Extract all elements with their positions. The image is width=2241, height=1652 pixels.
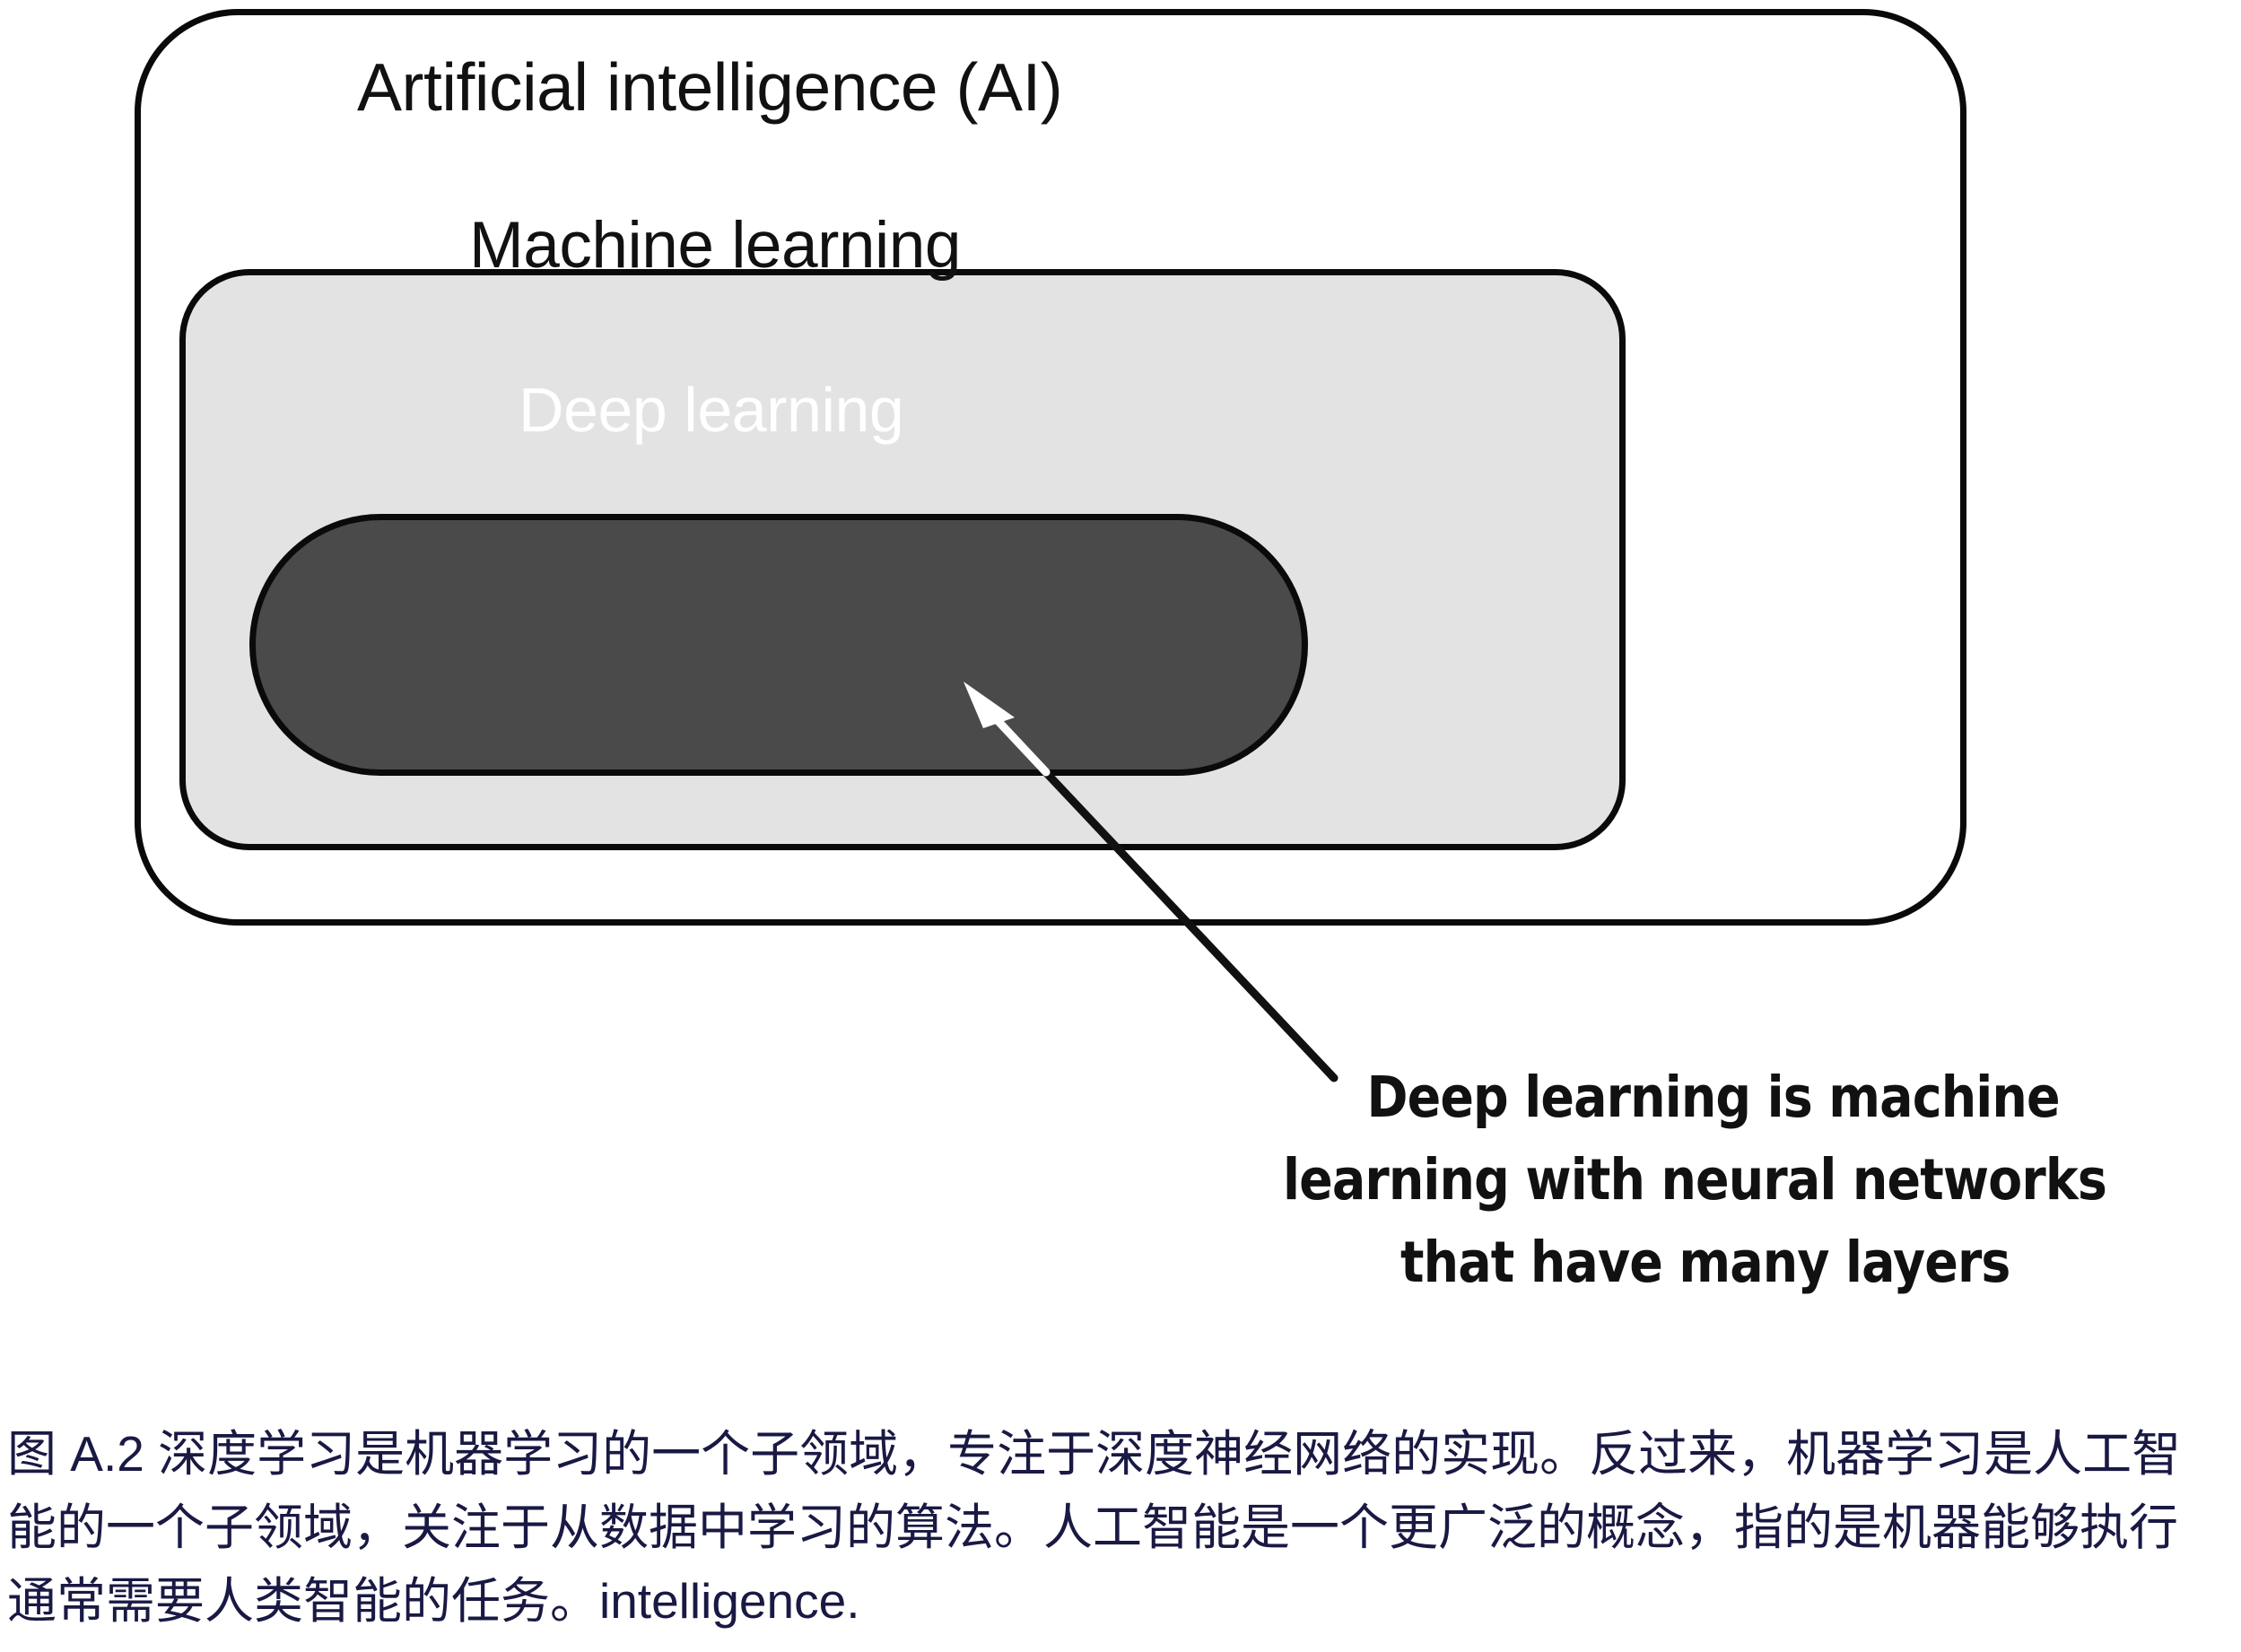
caption-line-3: 通常需要人类智能的任务。intelligence.	[7, 1564, 2236, 1638]
artificial-intelligence-label: Artificial intelligence (AI)	[357, 54, 1062, 121]
annotation-line-1: Deep learning is machine	[1283, 1056, 2104, 1139]
caption-line-1: 图 A.2 深度学习是机器学习的一个子领域，专注于深度神经网络的实现。反过来，机…	[7, 1417, 2236, 1491]
machine-learning-label: Machine learning	[469, 213, 961, 278]
deep-learning-label: Deep learning	[519, 378, 903, 441]
figure-caption: 图 A.2 深度学习是机器学习的一个子领域，专注于深度神经网络的实现。反过来，机…	[7, 1417, 2236, 1638]
caption-line-2: 能的一个子领域，关注于从数据中学习的算法。人工智能是一个更广泛的概念，指的是机器…	[7, 1491, 2236, 1564]
figure-container: Artificial intelligence (AI) Machine lea…	[0, 0, 2241, 1652]
annotation-text: Deep learning is machine learning with n…	[1283, 1056, 2104, 1304]
annotation-line-3: that have many layers	[1283, 1222, 2104, 1304]
deep-learning-box	[249, 514, 1308, 776]
annotation-line-2: learning with neural networks	[1283, 1139, 2104, 1222]
